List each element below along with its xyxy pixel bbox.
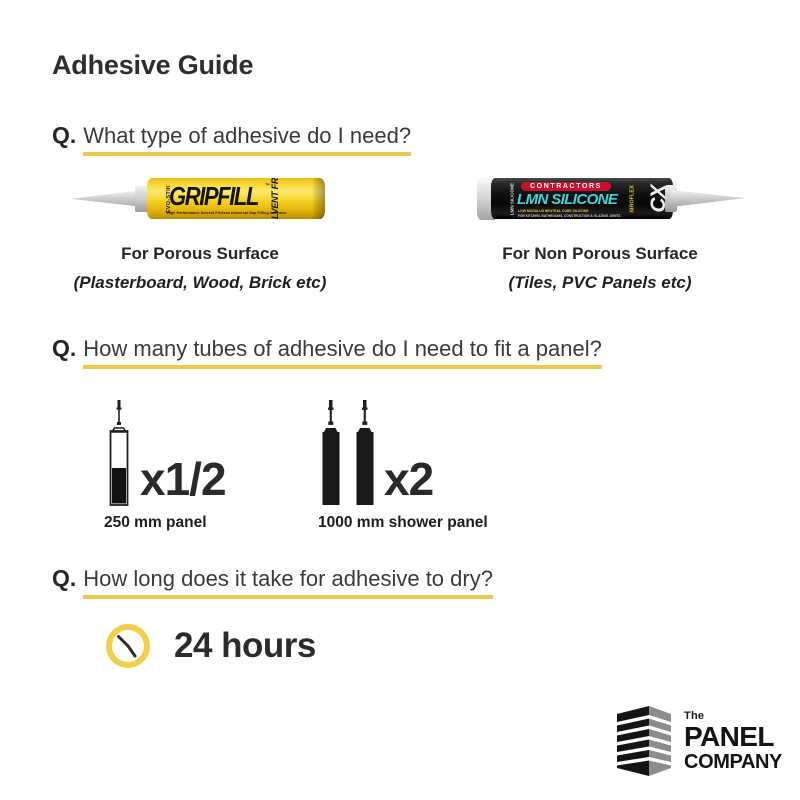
- full-tube-icon: [352, 398, 378, 508]
- question-1-text: What type of adhesive do I need?: [83, 123, 411, 156]
- quantity-multiplier-250mm: x1/2: [140, 458, 226, 502]
- question-3: Q. How long does it take for adhesive to…: [52, 565, 493, 599]
- quantity-caption-250mm: 250 mm panel: [104, 514, 226, 532]
- gripfill-brand-text: GRIPFILL: [169, 184, 258, 210]
- clock-icon: [104, 622, 152, 670]
- quantity-caption-1000mm: 1000 mm shower panel: [318, 514, 488, 532]
- question-marker: Q.: [52, 565, 76, 592]
- gripfill-strapline: High Performance Solvent Fireless Univer…: [167, 211, 287, 215]
- porous-caption-sub: (Plasterboard, Wood, Brick etc): [74, 273, 327, 293]
- lmn-brand-text: LMN SILICONE: [517, 192, 617, 207]
- quantity-multiplier-1000mm: x2: [384, 458, 433, 502]
- question-1: Q. What type of adhesive do I need?: [52, 122, 411, 156]
- product-porous: EVO-STIK GRIPFILL ™ SOLVENT FREE High Pe…: [0, 172, 400, 293]
- company-logo: The PANEL COMPANY: [613, 702, 782, 780]
- question-marker: Q.: [52, 335, 76, 362]
- product-non-porous: LMN SILICONE CONTRACTORS LMN SILICONE LO…: [400, 172, 800, 293]
- non-porous-caption-sub: (Tiles, PVC Panels etc): [509, 273, 692, 293]
- lmn-claim-text: SIROFLEX: [630, 185, 637, 213]
- gripfill-tube-image: EVO-STIK GRIPFILL ™ SOLVENT FREE High Pe…: [55, 172, 345, 224]
- question-2: Q. How many tubes of adhesive do I need …: [52, 335, 602, 369]
- product-row: EVO-STIK GRIPFILL ™ SOLVENT FREE High Pe…: [0, 172, 800, 293]
- page-title: Adhesive Guide: [52, 50, 253, 81]
- quantity-visual: x2: [318, 398, 488, 508]
- tube-nozzle-icon: [71, 190, 143, 207]
- question-3-text: How long does it take for adhesive to dr…: [83, 566, 493, 599]
- logo-wordmark: The PANEL COMPANY: [684, 711, 782, 772]
- quantity-group-1000mm: x2 1000 mm shower panel: [318, 398, 488, 532]
- lmn-side-text: LMN SILICONE: [510, 182, 515, 214]
- gripfill-barrel: EVO-STIK GRIPFILL ™ SOLVENT FREE High Pe…: [147, 178, 325, 219]
- panel-stack-logo-icon: [613, 702, 675, 780]
- lmn-banner-text: CONTRACTORS: [521, 182, 611, 191]
- question-2-text: How many tubes of adhesive do I need to …: [83, 336, 602, 369]
- lmn-barrel: LMN SILICONE CONTRACTORS LMN SILICONE LO…: [491, 178, 673, 219]
- lmn-strapline-secondary: FOR KITCHEN, BATHROOMS, CONSTRUCTION & G…: [518, 214, 620, 218]
- half-full-tube-icon: [104, 398, 134, 508]
- tube-solid-group: [318, 398, 378, 508]
- quantity-group-250mm: x1/2 250 mm panel: [104, 398, 226, 532]
- tube-outline-group: [104, 398, 134, 508]
- quantity-visual: x1/2: [104, 398, 226, 508]
- logo-panel-text: PANEL: [684, 723, 782, 751]
- tube-nozzle-icon: [671, 190, 745, 207]
- non-porous-caption-main: For Non Porous Surface: [502, 244, 698, 264]
- lmn-silicone-tube-image: LMN SILICONE CONTRACTORS LMN SILICONE LO…: [455, 172, 745, 224]
- logo-company-text: COMPANY: [684, 752, 782, 772]
- answer-row: 24 hours: [104, 622, 316, 670]
- lmn-strapline: LOW MODULUS NEUTRAL CURE SILICONE: [518, 209, 589, 213]
- porous-caption-main: For Porous Surface: [121, 244, 279, 264]
- full-tube-icon: [318, 398, 344, 508]
- question-marker: Q.: [52, 122, 76, 149]
- logo-the-text: The: [684, 711, 782, 722]
- answer-text: 24 hours: [174, 626, 316, 666]
- tube-cap-end: [313, 178, 325, 219]
